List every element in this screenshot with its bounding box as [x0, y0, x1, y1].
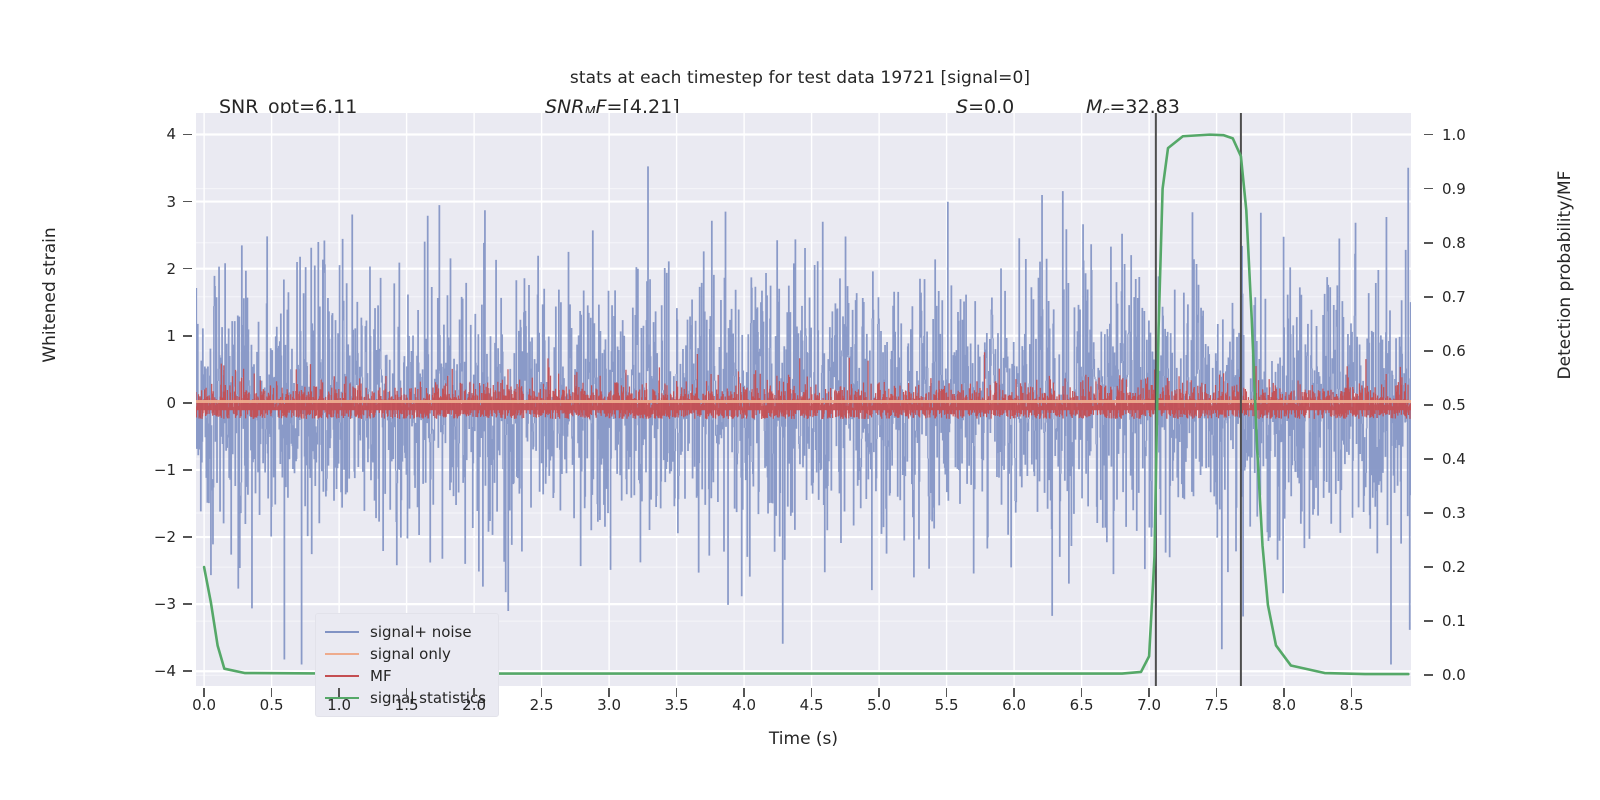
- ytick-right-mark: [1424, 134, 1433, 136]
- xtick: 0.0: [192, 696, 216, 714]
- xtick-mark: [1283, 688, 1285, 697]
- xtick: 6.0: [1002, 696, 1026, 714]
- xtick-mark: [203, 688, 205, 697]
- ytick-right-mark: [1424, 404, 1433, 406]
- legend-item-label: MF: [370, 667, 392, 685]
- legend-color-swatch: [325, 653, 359, 655]
- xtick: 4.5: [800, 696, 824, 714]
- xtick-mark: [1148, 688, 1150, 697]
- xtick-mark: [743, 688, 745, 697]
- ytick-right-mark: [1424, 620, 1433, 622]
- xtick: 6.5: [1070, 696, 1094, 714]
- figure-canvas: stats at each timestep for test data 197…: [0, 0, 1600, 800]
- ytick-left-mark: [183, 536, 192, 538]
- ytick-left: −2: [140, 528, 176, 546]
- ytick-right: 1.0: [1442, 126, 1466, 144]
- ytick-left-mark: [183, 201, 192, 203]
- xtick-mark: [1013, 688, 1015, 697]
- xtick: 1.5: [395, 696, 419, 714]
- xtick: 8.0: [1272, 696, 1296, 714]
- xtick: 1.0: [327, 696, 351, 714]
- plot-svg: [196, 113, 1411, 686]
- ytick-left-mark: [183, 335, 192, 337]
- y-axis-label-right: Detection probability/MF: [1555, 130, 1575, 420]
- xtick-mark: [946, 688, 948, 697]
- ytick-right-mark: [1424, 458, 1433, 460]
- ytick-left: 2: [140, 260, 176, 278]
- xtick-mark: [271, 688, 273, 697]
- xtick-mark: [473, 688, 475, 697]
- xtick: 2.0: [462, 696, 486, 714]
- xtick-mark: [1351, 688, 1353, 697]
- ytick-right: 0.4: [1442, 450, 1466, 468]
- legend-item-label: signal only: [370, 645, 451, 663]
- ytick-left: −1: [140, 461, 176, 479]
- xtick: 4.0: [732, 696, 756, 714]
- xtick-mark: [338, 688, 340, 697]
- plot-area: [196, 113, 1411, 686]
- xtick-mark: [406, 688, 408, 697]
- xtick: 3.0: [597, 696, 621, 714]
- xtick: 0.5: [260, 696, 284, 714]
- xtick: 3.5: [665, 696, 689, 714]
- xtick: 2.5: [530, 696, 554, 714]
- ytick-right: 0.6: [1442, 342, 1466, 360]
- ytick-right: 0.7: [1442, 288, 1466, 306]
- ytick-right: 0.1: [1442, 612, 1466, 630]
- figure-title: stats at each timestep for test data 197…: [0, 68, 1600, 88]
- ytick-right-mark: [1424, 350, 1433, 352]
- xtick: 5.5: [935, 696, 959, 714]
- ytick-right-mark: [1424, 674, 1433, 676]
- ytick-right: 0.2: [1442, 558, 1466, 576]
- ytick-right-mark: [1424, 512, 1433, 514]
- xtick: 7.0: [1137, 696, 1161, 714]
- x-axis-label: Time (s): [196, 729, 1411, 749]
- ytick-right: 0.3: [1442, 504, 1466, 522]
- xtick: 5.0: [867, 696, 891, 714]
- ytick-left: 0: [140, 394, 176, 412]
- ytick-right-mark: [1424, 566, 1433, 568]
- xtick-mark: [608, 688, 610, 697]
- ytick-left: −4: [140, 662, 176, 680]
- xtick-mark: [676, 688, 678, 697]
- ytick-left-mark: [183, 268, 192, 270]
- ytick-left: −3: [140, 595, 176, 613]
- xtick-mark: [1081, 688, 1083, 697]
- ytick-left-mark: [183, 670, 192, 672]
- xtick-mark: [811, 688, 813, 697]
- legend-color-swatch: [325, 675, 359, 677]
- ytick-right: 0.9: [1442, 180, 1466, 198]
- ytick-left-mark: [183, 134, 192, 136]
- ytick-left: 4: [140, 125, 176, 143]
- ytick-left: 1: [140, 327, 176, 345]
- legend-color-swatch: [325, 631, 359, 633]
- legend-item-label: signal+ noise: [370, 623, 472, 641]
- ytick-left: 3: [140, 193, 176, 211]
- ytick-left-mark: [183, 469, 192, 471]
- ytick-right: 0.5: [1442, 396, 1466, 414]
- xtick-mark: [541, 688, 543, 697]
- xtick: 8.5: [1340, 696, 1364, 714]
- xtick: 7.5: [1205, 696, 1229, 714]
- ytick-right-mark: [1424, 296, 1433, 298]
- legend-item[interactable]: MF: [325, 665, 486, 687]
- ytick-right: 0.0: [1442, 666, 1466, 684]
- ytick-right-mark: [1424, 188, 1433, 190]
- ytick-left-mark: [183, 402, 192, 404]
- xtick-mark: [878, 688, 880, 697]
- ytick-right: 0.8: [1442, 234, 1466, 252]
- ytick-left-mark: [183, 603, 192, 605]
- xtick-mark: [1216, 688, 1218, 697]
- ytick-right-mark: [1424, 242, 1433, 244]
- y-axis-label-left: Whitened strain: [40, 185, 60, 405]
- legend-item[interactable]: signal only: [325, 643, 486, 665]
- legend-item[interactable]: signal+ noise: [325, 621, 486, 643]
